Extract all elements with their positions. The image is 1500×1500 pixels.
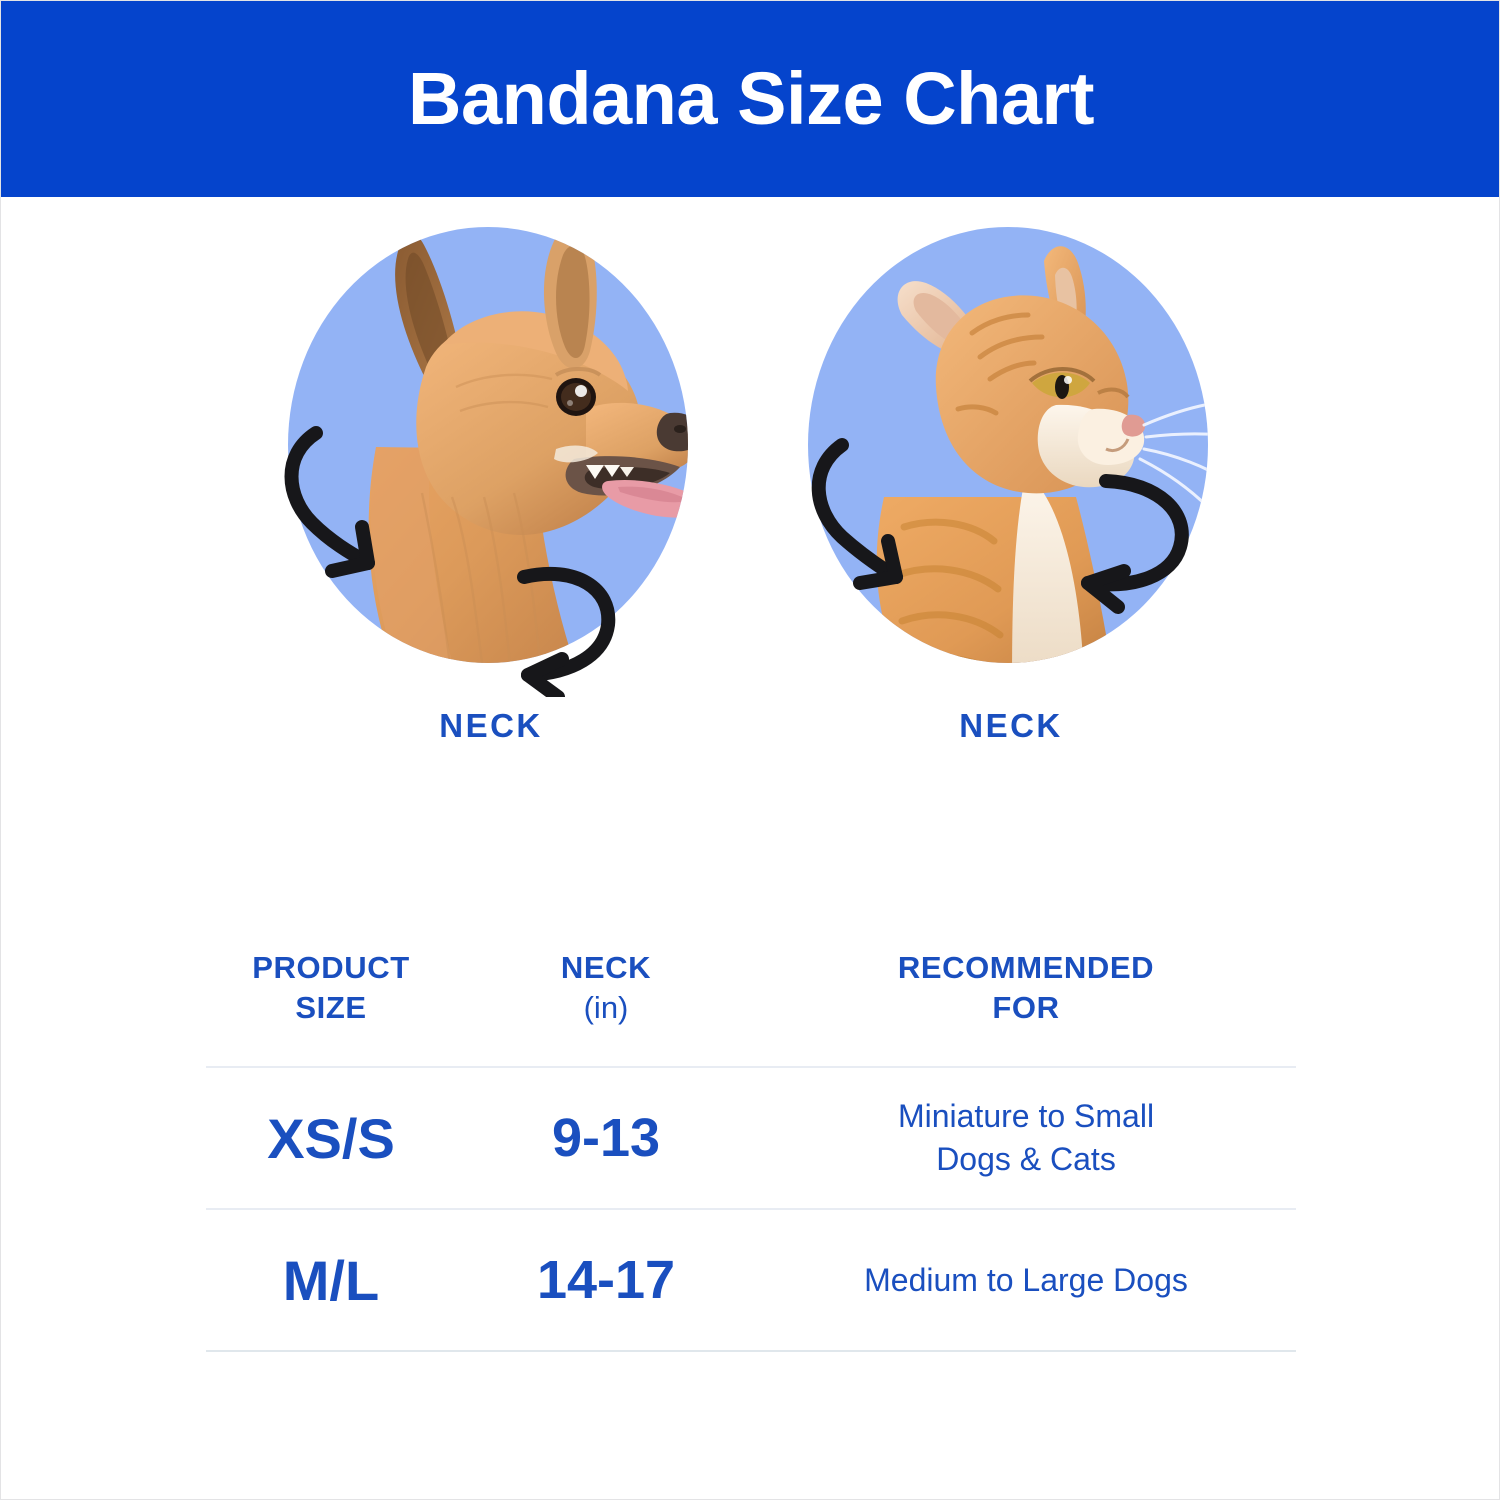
- dog-neck-label: NECK: [439, 707, 543, 745]
- table-header-row: PRODUCT SIZE NECK (in) RECOMMENDED FOR: [206, 926, 1296, 1066]
- cell-neck-range: 14-17: [456, 1249, 756, 1311]
- column-header-recommended-line1: RECOMMENDED: [898, 950, 1154, 985]
- column-header-neck: NECK (in): [456, 926, 756, 1027]
- cell-neck-range: 9-13: [456, 1107, 756, 1169]
- size-chart-page: Bandana Size Chart: [0, 0, 1500, 1500]
- column-header-recommended-line2: FOR: [992, 990, 1059, 1025]
- cell-recommended-line2: Dogs & Cats: [936, 1141, 1116, 1177]
- table-row: M/L 14-17 Medium to Large Dogs: [206, 1208, 1296, 1352]
- cell-recommended-for: Medium to Large Dogs: [756, 1259, 1296, 1302]
- cat-profile-photo: [776, 197, 1246, 697]
- cell-recommended-line1: Miniature to Small: [898, 1098, 1154, 1134]
- cell-product-size: M/L: [206, 1248, 456, 1313]
- header-banner: Bandana Size Chart: [1, 1, 1500, 197]
- cat-neck-label: NECK: [959, 707, 1063, 745]
- pet-illustration-row: NECK: [1, 197, 1500, 857]
- size-chart-table: PRODUCT SIZE NECK (in) RECOMMENDED FOR X…: [206, 926, 1296, 1352]
- cell-recommended-for: Miniature to Small Dogs & Cats: [756, 1095, 1296, 1181]
- column-header-product-size-line2: SIZE: [295, 990, 366, 1025]
- column-header-recommended-for: RECOMMENDED FOR: [756, 926, 1296, 1027]
- column-header-neck-unit: (in): [456, 988, 756, 1028]
- cat-illustration-block: NECK: [751, 197, 1271, 817]
- column-header-neck-line1: NECK: [561, 950, 651, 985]
- page-title: Bandana Size Chart: [408, 62, 1094, 136]
- column-header-product-size-line1: PRODUCT: [252, 950, 409, 985]
- dog-illustration-block: NECK: [231, 197, 751, 817]
- cell-product-size: XS/S: [206, 1106, 456, 1171]
- table-row: XS/S 9-13 Miniature to Small Dogs & Cats: [206, 1066, 1296, 1208]
- dog-profile-photo: [256, 197, 726, 697]
- column-header-product-size: PRODUCT SIZE: [206, 926, 456, 1027]
